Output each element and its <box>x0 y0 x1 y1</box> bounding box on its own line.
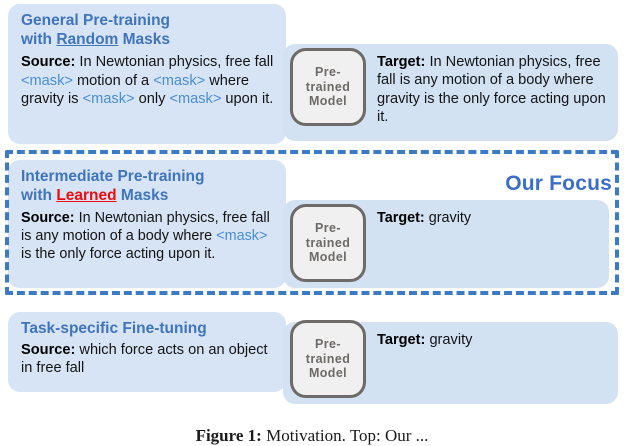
source-panel-finetune: Task-specific Fine-tuning Source: which … <box>8 312 286 392</box>
model-line-1: Pre- <box>315 337 341 352</box>
mask-token: <mask> <box>153 73 205 89</box>
stage-title-intermediate-with: with <box>21 187 56 204</box>
mask-token: <mask> <box>216 228 267 244</box>
figure-caption-text: Motivation. Top: Our ... <box>262 426 429 445</box>
model-line-3: Model <box>309 250 347 265</box>
text-run: is the only force acting upon it. <box>21 246 215 262</box>
stage-title-general-keyword: Random <box>56 31 118 48</box>
source-text-finetune: Source: which force acts on an object in… <box>21 341 274 378</box>
target-body-finetune: gravity <box>425 332 472 348</box>
stage-title-general: General Pre-training with Random Masks <box>21 11 274 49</box>
target-text-intermediate: Target: gravity <box>377 209 599 227</box>
model-line-1: Pre- <box>315 65 341 80</box>
figure-caption-prefix: Figure 1: <box>196 426 262 445</box>
target-label-general: Target: <box>377 54 425 70</box>
target-text-finetune: Target: gravity <box>377 331 608 349</box>
mask-token: <mask> <box>83 91 135 107</box>
source-text-intermediate: Source: In Newtonian physics, free fall … <box>21 209 274 263</box>
stage-title-finetune-line1: Task-specific Fine-tuning <box>21 320 207 337</box>
model-line-2: trained <box>306 236 350 251</box>
source-label-general: Source: <box>21 54 75 70</box>
our-focus-label: Our Focus <box>505 172 612 196</box>
stage-title-general-line1: General Pre-training <box>21 12 170 29</box>
stage-title-intermediate-keyword: Learned <box>56 187 116 204</box>
text-run: motion of a <box>73 73 153 89</box>
motivation-figure: Our Focus General Pre-training with Rand… <box>0 0 624 438</box>
target-text-general: Target: In Newtonian physics, free fall … <box>377 53 608 127</box>
stage-title-intermediate: Intermediate Pre-training with Learned M… <box>21 167 274 205</box>
model-line-2: trained <box>306 352 350 367</box>
model-line-3: Model <box>309 94 347 109</box>
stage-title-general-suffix: Masks <box>118 31 170 48</box>
stage-title-intermediate-line1: Intermediate Pre-training <box>21 168 204 185</box>
text-run: only <box>135 91 170 107</box>
model-line-2: trained <box>306 80 350 95</box>
text-run: In Newtonian physics, free fall <box>75 54 273 70</box>
source-text-general: Source: In Newtonian physics, free fall … <box>21 53 274 108</box>
source-panel-general: General Pre-training with Random Masks S… <box>8 4 286 144</box>
text-run: upon it. <box>221 91 273 107</box>
source-panel-intermediate: Intermediate Pre-training with Learned M… <box>8 160 286 288</box>
pretrained-model-box-general: Pre- trained Model <box>290 48 366 126</box>
pretrained-model-box-finetune: Pre- trained Model <box>290 320 366 398</box>
source-label-finetune: Source: <box>21 342 75 358</box>
target-body-intermediate: gravity <box>425 210 471 226</box>
mask-token: <mask> <box>169 91 221 107</box>
figure-caption: Figure 1: Motivation. Top: Our ... <box>0 426 624 446</box>
stage-title-general-with: with <box>21 31 56 48</box>
model-line-3: Model <box>309 366 347 381</box>
source-label-intermediate: Source: <box>21 210 75 226</box>
stage-title-finetune: Task-specific Fine-tuning <box>21 319 274 338</box>
target-label-finetune: Target: <box>377 332 425 348</box>
stage-general-pretraining: General Pre-training with Random Masks S… <box>8 4 618 144</box>
stage-title-intermediate-suffix: Masks <box>117 187 169 204</box>
pretrained-model-box-intermediate: Pre- trained Model <box>290 204 366 282</box>
target-label-intermediate: Target: <box>377 210 425 226</box>
mask-token: <mask> <box>21 73 73 89</box>
model-line-1: Pre- <box>315 221 341 236</box>
stage-task-specific-finetuning: Task-specific Fine-tuning Source: which … <box>8 312 618 404</box>
